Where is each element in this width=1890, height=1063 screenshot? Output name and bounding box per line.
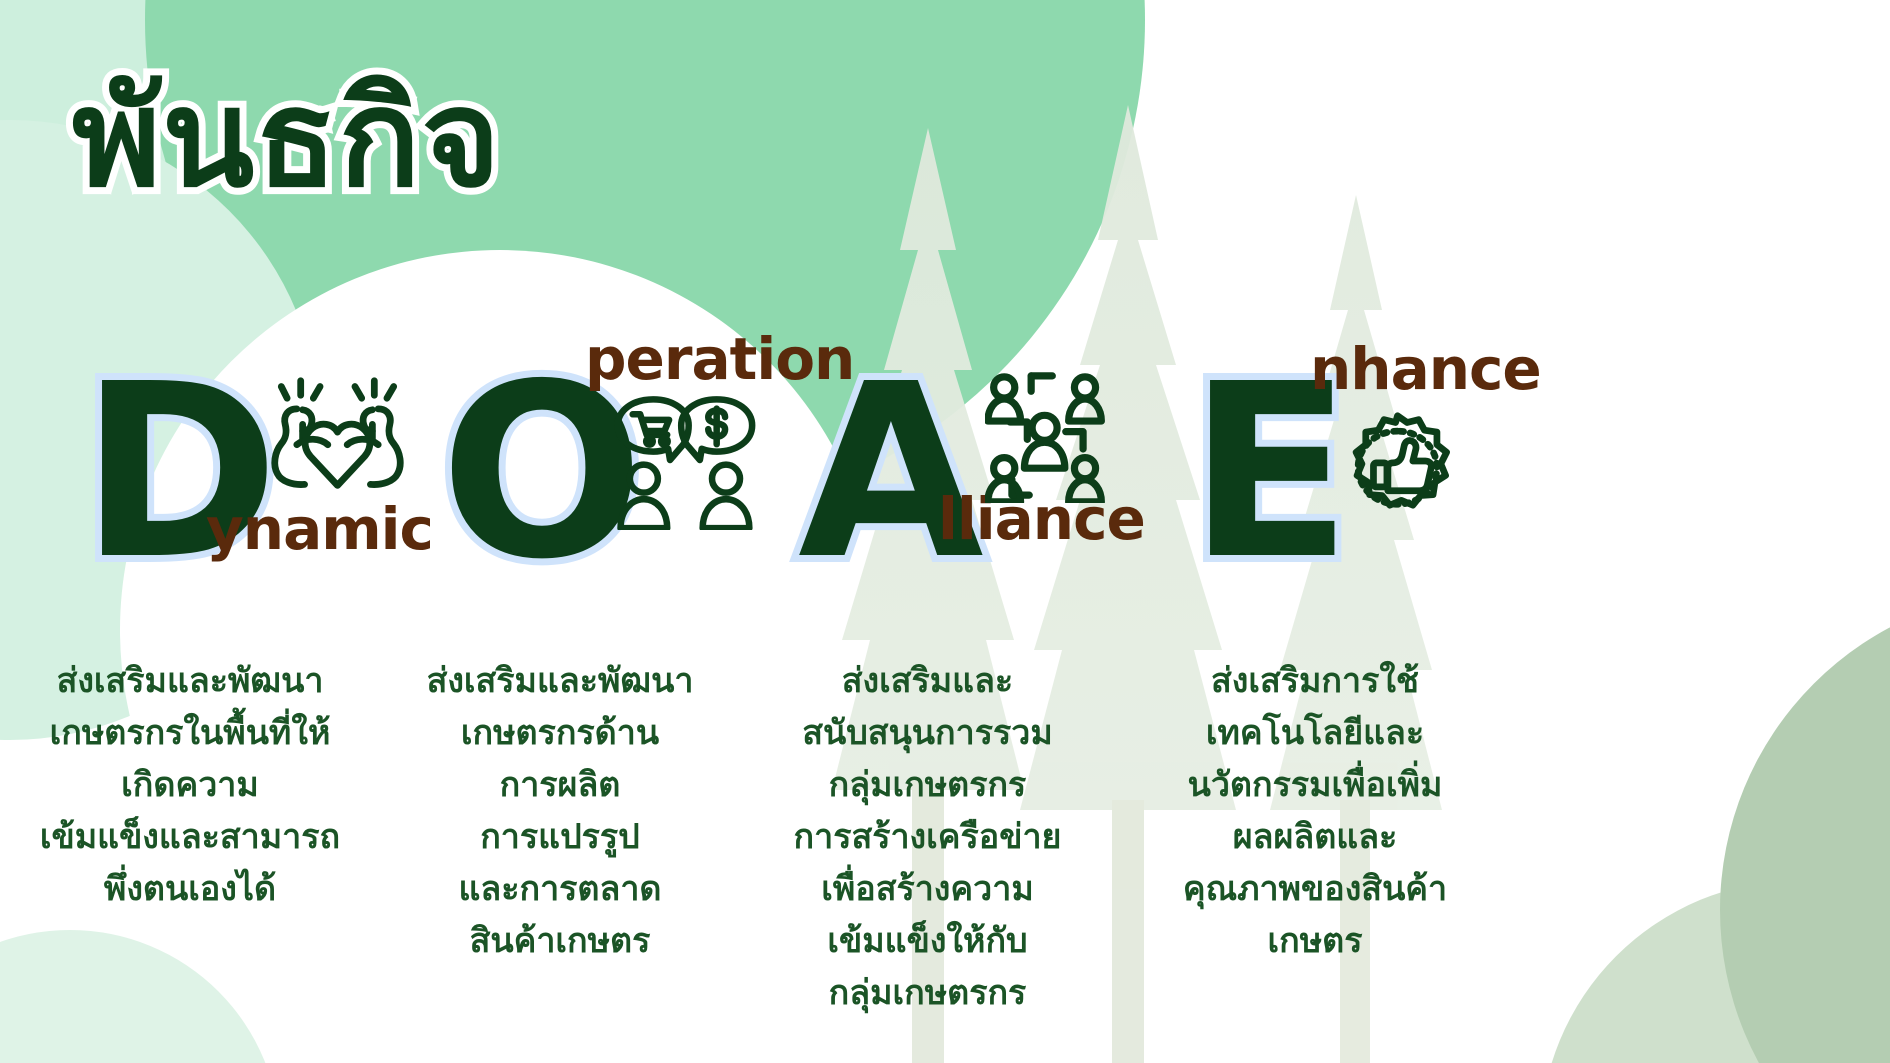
pillar-description-line: การแปรรูป [395,811,725,863]
pillar-description-line: สินค้าเกษตร [395,915,725,967]
pillar-description-line: คุณภาพของสินค้า [1135,863,1495,915]
page-title: พันธกิจ [72,55,502,224]
pillar-description-line: ส่งเสริมและ [755,655,1100,707]
pillar-description-line: นวัตกรรมเพื่อเพิ่ม [1135,759,1495,811]
pillar-description-line: ผลผลิตและ [1135,811,1495,863]
pillar-operation: O peration [380,390,725,590]
pillar-description-line: เกษตรกรด้าน [395,707,725,759]
pillar-description-line: พึ่งตนเองได้ [20,863,360,915]
pillar-description-line: และการตลาด [395,863,725,915]
pillar-description-line: เพื่อสร้างความ [755,863,1100,915]
pillar-description-line: เทคโนโลยีและ [1135,707,1495,759]
pillar-letter-row: E nhance [1130,390,1510,590]
pillar-dynamic: D ynamic [10,390,385,590]
pillar-word-enhance: nhance [1310,335,1541,403]
pillar-description-line: เกิดความ [20,759,360,811]
pillar-description-line: การสร้างเครือข่าย [755,811,1100,863]
pillar-description-line: สนับสนุนการรวม [755,707,1100,759]
pillar-description-line: กลุ่มเกษตรกร [755,967,1100,1019]
pillar-alliance: A lliance [740,390,1110,590]
pillar-description-line: เกษตรกรในพื้นที่ให้ [20,707,360,759]
pillar-description-line: การผลิต [395,759,725,811]
people-network-icon [985,368,1110,507]
pillar-description-line: เกษตร [1135,915,1495,967]
pillar-description-line: กลุ่มเกษตรกร [755,759,1100,811]
pillar-letter-row: A lliance [740,390,1110,590]
pillar-description-line: ส่งเสริมและพัฒนา [20,655,360,707]
thumbs-up-badge-icon [1335,410,1460,539]
pillar-description-line: เข้มแข็งและสามารถ [20,811,360,863]
pillar-description-dynamic: ส่งเสริมและพัฒนาเกษตรกรในพื้นที่ให้เกิดค… [20,655,360,915]
pillar-letter-row: D ynamic [10,390,385,590]
pillar-enhance: E nhance [1130,390,1510,590]
pillar-description-line: เข้มแข็งให้กับ [755,915,1100,967]
pillar-description-enhance: ส่งเสริมการใช้เทคโนโลยีและนวัตกรรมเพื่อเ… [1135,655,1495,967]
infographic-canvas: พันธกิจ D ynamic [0,0,1890,1063]
pillar-description-line: ส่งเสริมและพัฒนา [395,655,725,707]
pillar-letter-row: O peration [380,390,725,590]
pillar-description-operation: ส่งเสริมและพัฒนาเกษตรกรด้านการผลิตการแปร… [395,655,725,967]
pillar-description-alliance: ส่งเสริมและสนับสนุนการรวมกลุ่มเกษตรกรการ… [755,655,1100,1019]
pillar-description-line: ส่งเสริมการใช้ [1135,655,1495,707]
